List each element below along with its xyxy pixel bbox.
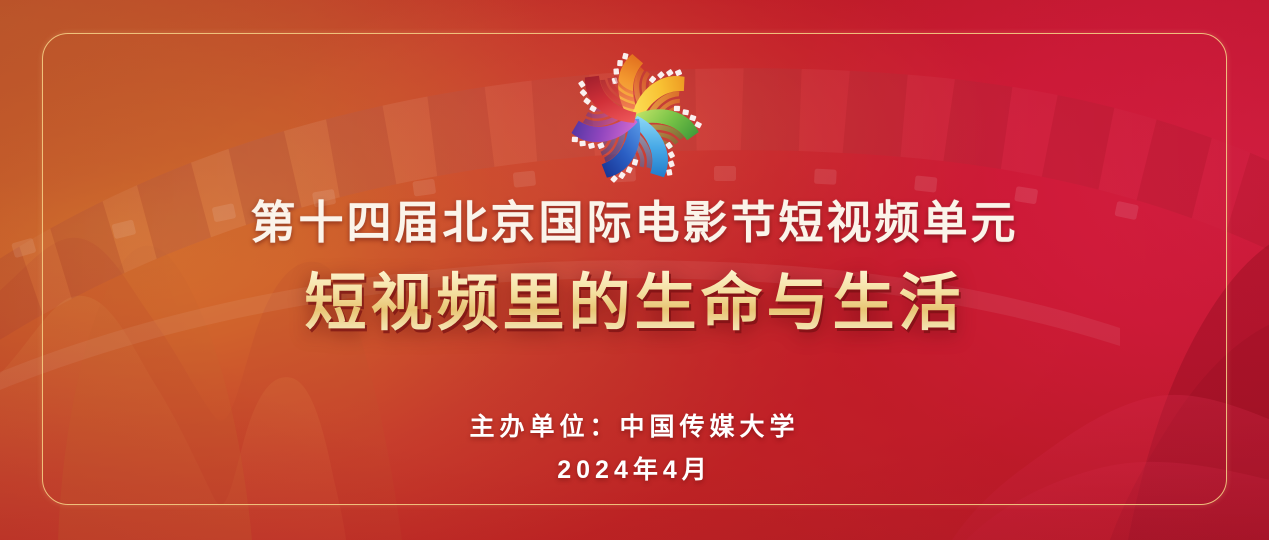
beijing-international-film-festival-logo-icon: [561, 52, 709, 186]
event-date: 2024年4月: [0, 450, 1269, 486]
poster-canvas: 第十四届北京国际电影节短视频单元 短视频里的生命与生活 主办单位：中国传媒大学 …: [0, 0, 1269, 540]
event-theme-title: 短视频里的生命与生活: [0, 252, 1269, 342]
event-headline: 第十四届北京国际电影节短视频单元: [0, 186, 1269, 251]
organizer-line: 主办单位：中国传媒大学: [0, 407, 1269, 443]
